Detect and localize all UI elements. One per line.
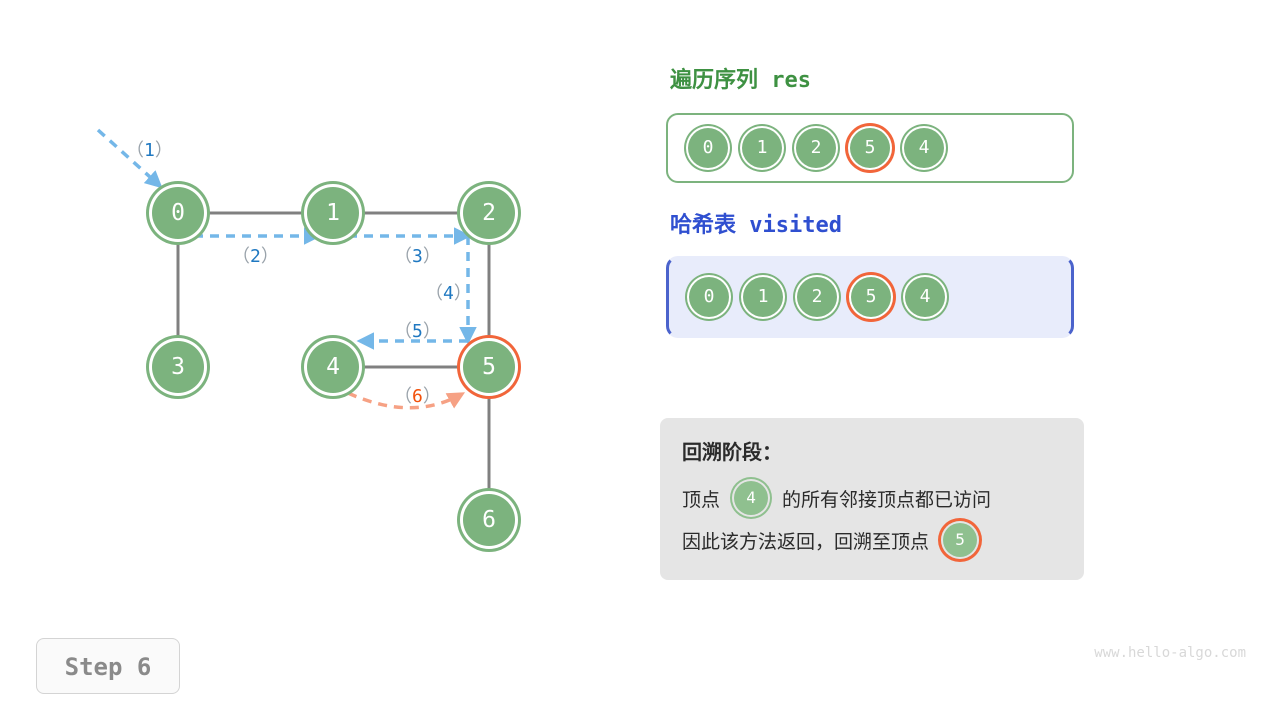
paren-close: ）: [261, 246, 279, 267]
res-item[interactable]: 4: [902, 126, 946, 170]
res-item[interactable]: 5: [848, 126, 892, 170]
paren-close: ）: [423, 321, 441, 342]
res-item-label: 2: [811, 137, 822, 158]
inline-node-chip-label: 4: [746, 488, 756, 507]
res-item-label: 0: [703, 137, 714, 158]
step-number: 6: [412, 386, 423, 407]
graph-node-6-label: 6: [482, 507, 496, 533]
step-label-5: （5）: [394, 317, 441, 343]
paren-open: （: [394, 321, 412, 342]
step-number: 1: [144, 140, 155, 161]
inline-node-chip-5: 5: [941, 521, 979, 559]
visited-item[interactable]: 5: [849, 275, 893, 319]
res-item-label: 4: [919, 137, 930, 158]
graph-diagram: 0 1 2 3 4 5 6 （1） （2） （3） （4）: [0, 0, 620, 620]
graph-node-5[interactable]: 5: [460, 338, 518, 396]
res-title: 遍历序列 res: [670, 62, 811, 94]
step-label-4: （4）: [425, 279, 472, 305]
paren-close: ）: [155, 140, 173, 161]
paren-open: （: [394, 386, 412, 407]
explanation-line-1: 顶点 4 的所有邻接顶点都已访问: [682, 477, 1062, 519]
inline-node-chip-4: 4: [732, 479, 770, 517]
graph-node-0-label: 0: [171, 200, 185, 226]
res-item[interactable]: 1: [740, 126, 784, 170]
inline-node-chip-label: 5: [955, 530, 965, 549]
graph-node-4[interactable]: 4: [304, 338, 362, 396]
visited-item[interactable]: 1: [741, 275, 785, 319]
step-label-6: （6）: [394, 382, 441, 408]
visited-item[interactable]: 4: [903, 275, 947, 319]
graph-node-5-label: 5: [482, 354, 496, 380]
graph-node-1-label: 1: [326, 200, 340, 226]
paren-open: （: [394, 246, 412, 267]
watermark: www.hello-algo.com: [1094, 645, 1246, 661]
explanation-line-2: 因此该方法返回，回溯至顶点 5: [682, 519, 1062, 561]
paren-open: （: [425, 283, 443, 304]
visited-item[interactable]: 2: [795, 275, 839, 319]
step-number: 4: [443, 283, 454, 304]
res-item[interactable]: 2: [794, 126, 838, 170]
res-item-label: 1: [757, 137, 768, 158]
paren-close: ）: [423, 246, 441, 267]
graph-edges-svg: [0, 0, 620, 620]
paren-open: （: [126, 140, 144, 161]
step-label-2: （2）: [232, 242, 279, 268]
visited-item-label: 5: [866, 286, 877, 307]
paren-close: ）: [423, 386, 441, 407]
res-array: 0 1 2 5 4: [666, 113, 1074, 183]
visited-title: 哈希表 visited: [670, 207, 842, 239]
step-label-1: （1）: [126, 136, 173, 162]
explanation-box: 回溯阶段： 顶点 4 的所有邻接顶点都已访问 因此该方法返回，回溯至顶点 5: [660, 418, 1084, 580]
visited-item-label: 4: [920, 286, 931, 307]
explanation-line-1-after: 的所有邻接顶点都已访问: [782, 485, 991, 512]
explanation-heading: 回溯阶段：: [682, 436, 1062, 465]
visited-item-label: 2: [812, 286, 823, 307]
visited-item[interactable]: 0: [687, 275, 731, 319]
step-badge: Step 6: [36, 638, 180, 694]
graph-node-3-label: 3: [171, 354, 185, 380]
res-item-label: 5: [865, 137, 876, 158]
paren-open: （: [232, 246, 250, 267]
step-number: 3: [412, 246, 423, 267]
visited-set: 0 1 2 5 4: [666, 256, 1074, 338]
step-number: 2: [250, 246, 261, 267]
graph-node-2[interactable]: 2: [460, 184, 518, 242]
step-number: 5: [412, 321, 423, 342]
graph-node-1[interactable]: 1: [304, 184, 362, 242]
visited-item-label: 1: [758, 286, 769, 307]
graph-node-4-label: 4: [326, 354, 340, 380]
slide-canvas: 0 1 2 3 4 5 6 （1） （2） （3） （4）: [0, 0, 1280, 720]
graph-node-3[interactable]: 3: [149, 338, 207, 396]
visited-item-label: 0: [704, 286, 715, 307]
explanation-line-2-before: 因此该方法返回，回溯至顶点: [682, 527, 929, 554]
step-label-3: （3）: [394, 242, 441, 268]
paren-close: ）: [454, 283, 472, 304]
res-item[interactable]: 0: [686, 126, 730, 170]
graph-node-6[interactable]: 6: [460, 491, 518, 549]
graph-node-2-label: 2: [482, 200, 496, 226]
explanation-line-1-before: 顶点: [682, 485, 720, 512]
graph-node-0[interactable]: 0: [149, 184, 207, 242]
